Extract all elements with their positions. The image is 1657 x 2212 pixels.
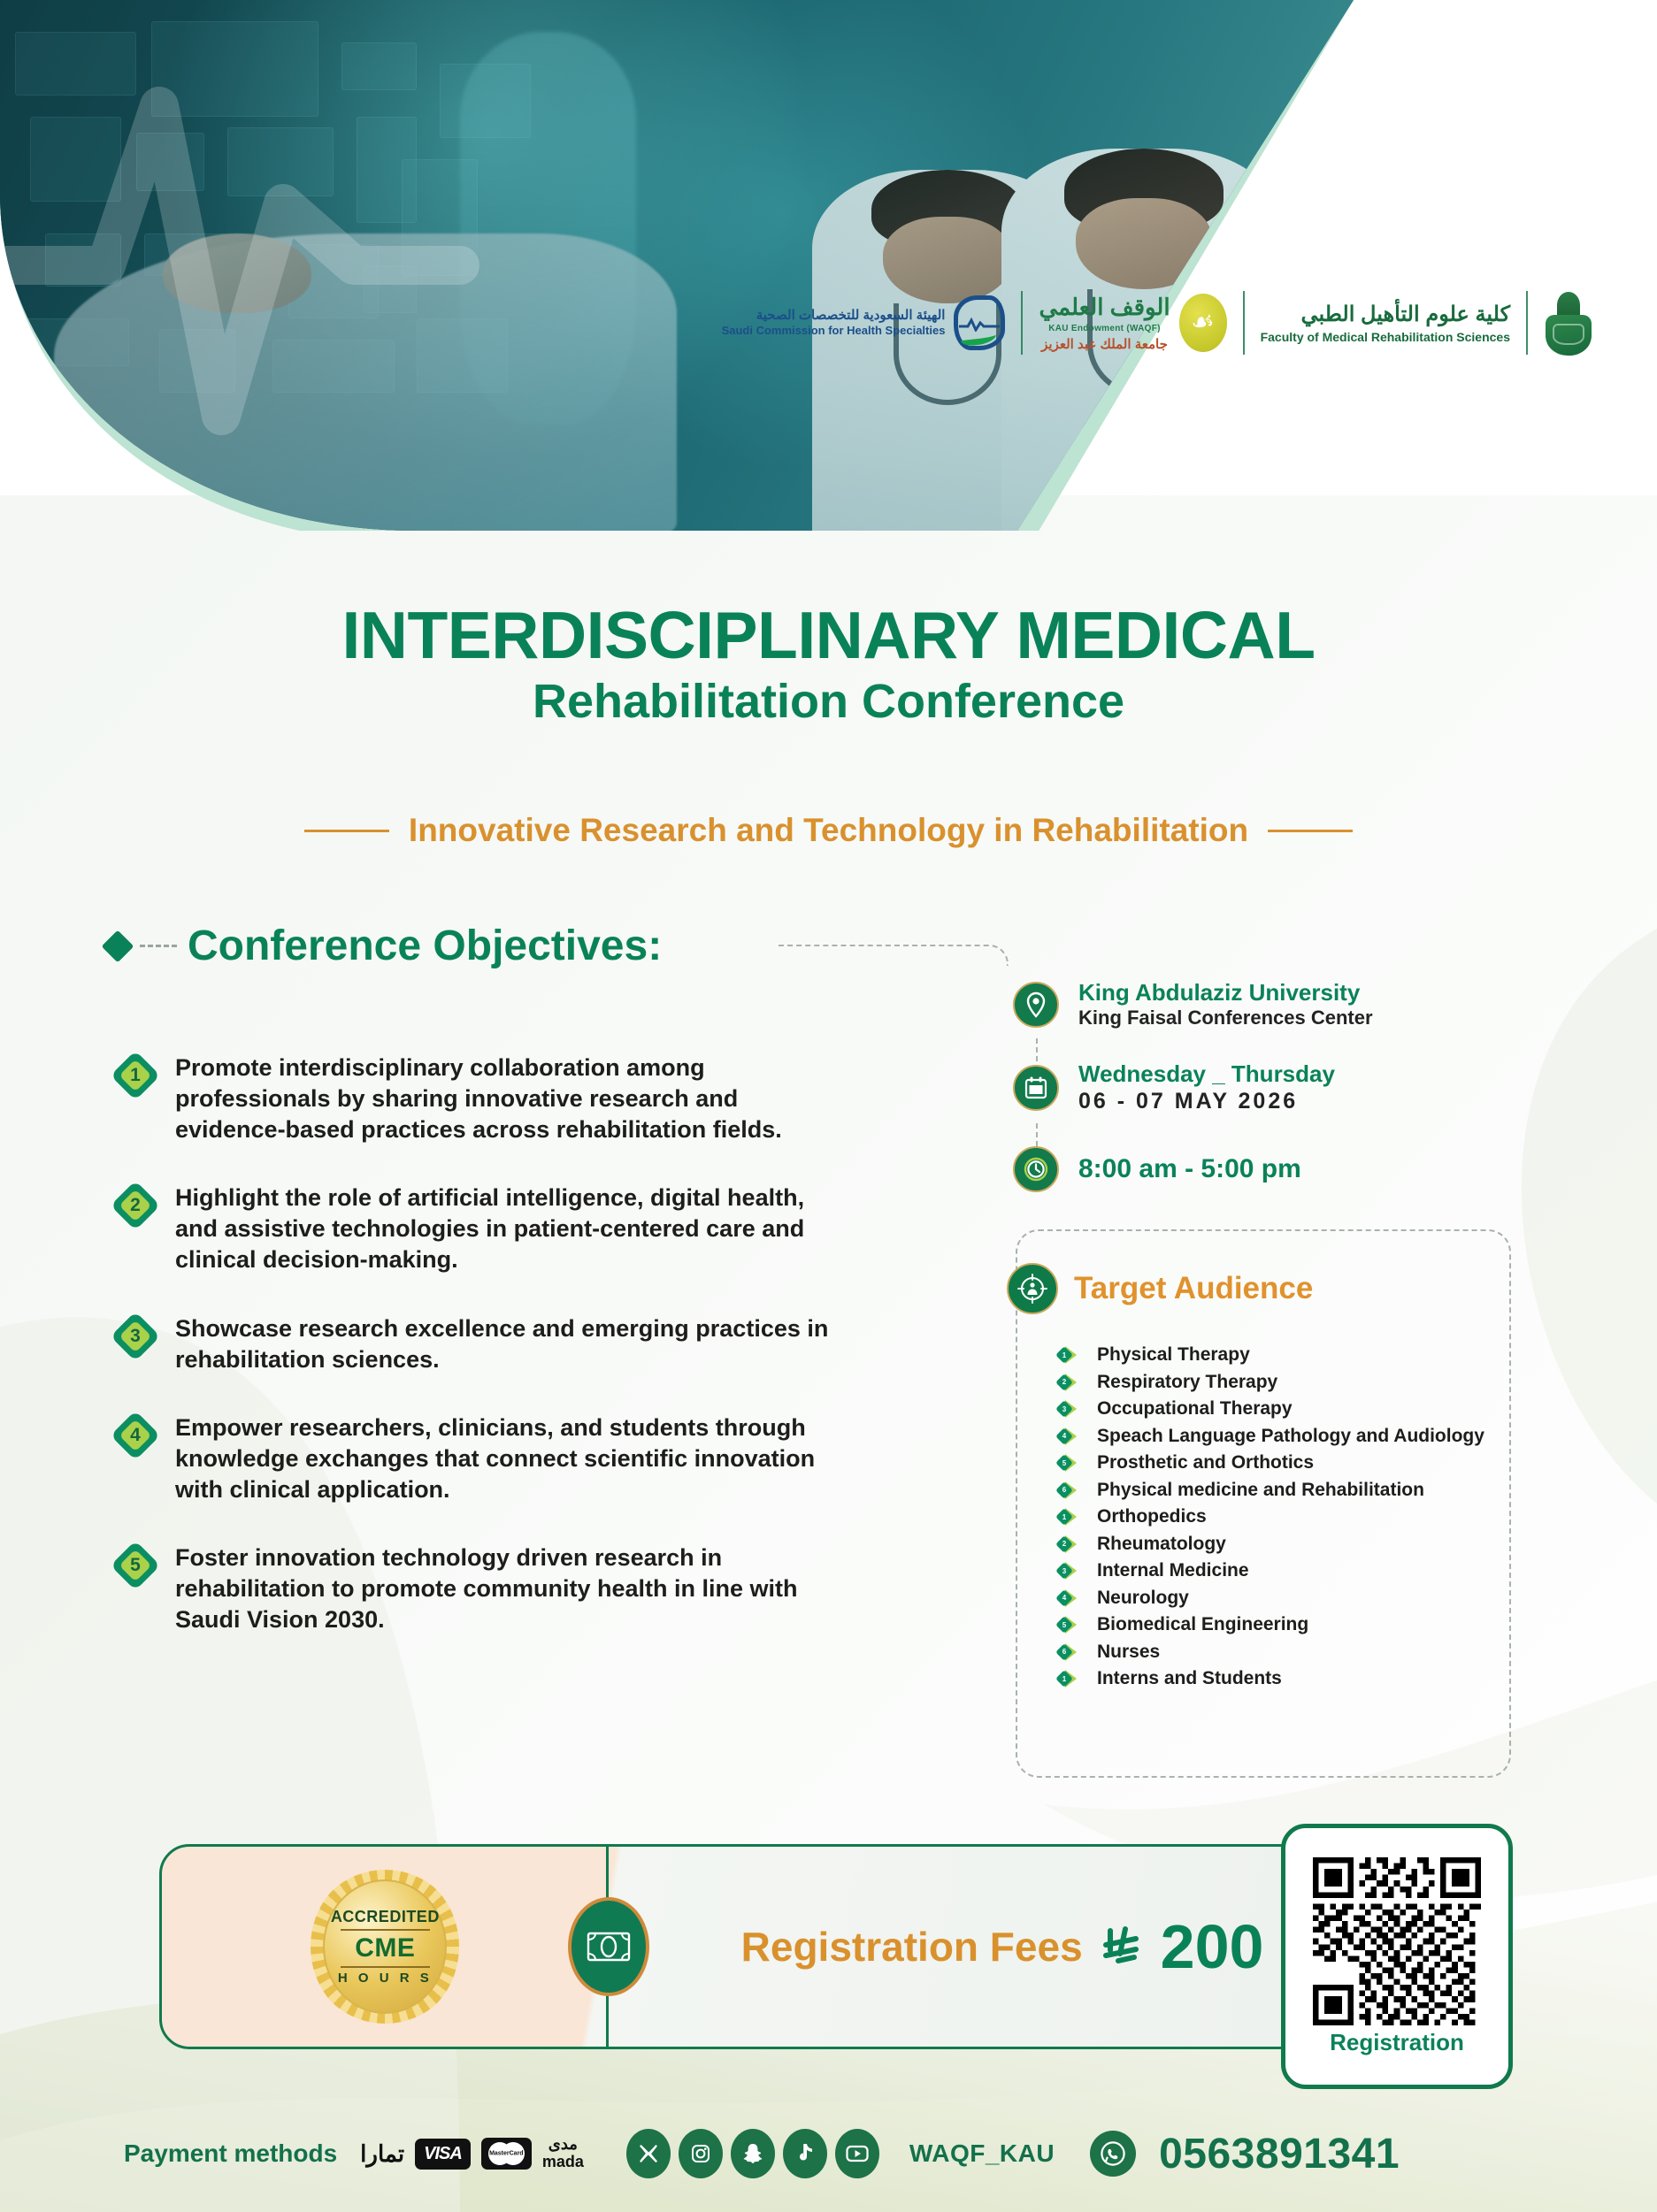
tamara-logo: تمارا [360,2140,404,2168]
qr-code[interactable] [1313,1857,1481,2025]
qr-label: Registration [1330,2029,1464,2056]
cme-panel: ACCREDITED CME H O U R S [162,1847,609,2047]
event-dates: 06 - 07 MAY 2026 [1078,1089,1298,1114]
cme-accreditation-badge: ACCREDITED CME H O U R S [311,1867,459,2026]
scfhs-arabic: الهيئة السعودية للتخصصات الصحية [722,308,946,325]
objective-number: 5 [115,1544,156,1587]
target-audience-icon [1007,1263,1058,1314]
calendar-icon [1013,1065,1059,1111]
audience-label: Physical medicine and Rehabilitation [1097,1480,1424,1501]
objective-item: 2 Highlight the role of artificial intel… [115,1183,849,1275]
waqf-seal-icon: ☙ [1179,294,1227,352]
objective-text: Empower researchers, clinicians, and stu… [175,1412,849,1505]
audience-label: Occupational Therapy [1097,1398,1293,1420]
registration-qr-card[interactable]: Registration [1281,1824,1513,2089]
objective-text: Highlight the role of artificial intelli… [175,1183,849,1275]
faculty-arabic: كلية علوم التأهيل الطبي [1261,301,1510,328]
page-title-line1: INTERDISCIPLINARY MEDICAL [0,601,1657,670]
audience-label: Orthopedics [1097,1506,1207,1527]
arrow-bullet-icon: 3 [1058,1399,1085,1419]
subtitle-rule-right [1268,830,1353,832]
list-item: 6Physical medicine and Rehabilitation [1058,1480,1484,1501]
date-row: Wednesday _ Thursday 06 - 07 MAY 2026 [1013,1061,1508,1114]
dashed-connector [1036,1123,1038,1146]
target-audience-title: Target Audience [1074,1271,1313,1306]
logo-kau-endowment: الوقف العلمي KAU Endowment (WAQF) جامعة … [1023,293,1242,353]
list-item: 5Prosthetic and Orthotics [1058,1452,1484,1473]
dashed-connector [140,945,177,947]
waqf-arabic: الوقف العلمي [1039,293,1170,323]
objectives-title: Conference Objectives: [188,922,662,970]
logo-saudi-commission: الهيئة السعودية للتخصصات الصحية Saudi Co… [706,295,1022,350]
objective-number-icon: 1 [115,1054,156,1097]
mastercard-logo: MasterCard [481,2138,532,2170]
logo-kau-crest [1528,290,1609,356]
cme-label: CME [355,1933,415,1963]
logo-row: الهيئة السعودية للتخصصات الصحية Saudi Co… [706,290,1609,356]
objective-number: 4 [115,1414,156,1457]
social-links [626,2129,879,2178]
contact-phone: 0563891341 [1159,2130,1400,2178]
arrow-bullet-icon: 6 [1058,1481,1085,1500]
objective-number-icon: 4 [115,1414,156,1457]
mada-logo: مدى mada [542,2136,584,2171]
audience-label: Internal Medicine [1097,1560,1249,1581]
youtube-icon[interactable] [835,2129,879,2178]
list-item: 1Orthopedics [1058,1506,1484,1527]
dashed-connector [1036,1038,1038,1061]
arrow-bullet-icon: 1 [1058,1345,1085,1365]
banknote-icon [568,1897,649,1996]
list-item: 1Interns and Students [1058,1668,1484,1689]
arrow-bullet-icon: 3 [1058,1561,1085,1581]
audience-label: Nurses [1097,1642,1160,1663]
time-row: 8:00 am - 5:00 pm [1013,1146,1508,1192]
objective-text: Foster innovation technology driven rese… [175,1542,849,1635]
objective-item: 5 Foster innovation technology driven re… [115,1542,849,1635]
objective-number: 3 [115,1315,156,1358]
scfhs-english: Saudi Commission for Health Specialties [722,324,946,338]
list-item: 6Nurses [1058,1642,1484,1663]
objective-number-icon: 5 [115,1544,156,1587]
snapchat-icon[interactable] [731,2129,775,2178]
social-handle: WAQF_KAU [909,2139,1055,2168]
objective-item: 3 Showcase research excellence and emerg… [115,1313,849,1375]
event-info-panel: King Abdulaziz University King Faisal Co… [1013,980,1508,1201]
subtitle-text: Innovative Research and Technology in Re… [409,812,1248,849]
list-item: 4Neurology [1058,1588,1484,1609]
target-audience-list: 1Physical Therapy 2Respiratory Therapy 3… [1058,1344,1484,1695]
waqf-arabic-sub: جامعة الملك عبد العزيز [1039,336,1170,354]
objective-text: Showcase research excellence and emergin… [175,1313,849,1375]
objective-item: 4 Empower researchers, clinicians, and s… [115,1412,849,1505]
list-item: 4Speach Language Pathology and Audiology [1058,1426,1484,1447]
arrow-bullet-icon: 2 [1058,1535,1085,1554]
diamond-bullet-icon [102,930,134,962]
arrow-bullet-icon: 5 [1058,1453,1085,1473]
kau-crest-icon [1544,290,1593,356]
venue-primary: King Abdulaziz University [1078,979,1360,1006]
objective-number: 2 [115,1184,156,1227]
faculty-english: Faculty of Medical Rehabilitation Scienc… [1261,329,1510,345]
logo-divider [1526,291,1528,355]
arrow-bullet-icon: 4 [1058,1588,1085,1608]
dashed-bracket [779,945,1009,966]
payment-methods-label: Payment methods [124,2139,337,2168]
objective-item: 1 Promote interdisciplinary collaboratio… [115,1052,849,1145]
whatsapp-icon[interactable] [1090,2131,1136,2177]
objective-number-icon: 3 [115,1315,156,1358]
tiktok-icon[interactable] [783,2129,827,2178]
waqf-english: KAU Endowment (WAQF) [1039,323,1170,334]
logo-faculty: كلية علوم التأهيل الطبي Faculty of Medic… [1245,301,1526,344]
audience-label: Prosthetic and Orthotics [1097,1452,1314,1473]
objective-text: Promote interdisciplinary collaboration … [175,1052,849,1145]
objectives-list: 1 Promote interdisciplinary collaboratio… [115,1052,849,1672]
arrow-bullet-icon: 1 [1058,1507,1085,1527]
event-days: Wednesday _ Thursday [1078,1060,1335,1087]
venue-row: King Abdulaziz University King Faisal Co… [1013,980,1508,1029]
venue-secondary: King Faisal Conferences Center [1078,1006,1373,1029]
registration-fees-label: Registration Fees [741,1923,1083,1971]
list-item: 1Physical Therapy [1058,1344,1484,1366]
target-audience-heading: Target Audience [1007,1263,1313,1314]
objective-number-icon: 2 [115,1184,156,1227]
objectives-heading: Conference Objectives: [106,922,662,970]
scfhs-logo-icon [954,295,1005,350]
location-pin-icon [1013,982,1059,1028]
instagram-icon[interactable] [679,2129,723,2178]
visa-logo: VISA [415,2139,471,2170]
mastercard-label: MasterCard [481,2151,532,2157]
subtitle-rule-left [304,830,389,832]
logo-divider [1021,291,1023,355]
audience-label: Physical Therapy [1097,1344,1250,1366]
list-item: 3Internal Medicine [1058,1560,1484,1581]
payment-logos: تمارا VISA MasterCard مدى mada [360,2136,584,2171]
list-item: 5Biomedical Engineering [1058,1614,1484,1635]
x-icon[interactable] [626,2129,671,2178]
logo-divider [1243,291,1245,355]
mada-arabic: مدى [548,2135,578,2153]
fees-amount-group: Registration Fees 200 [609,1916,1307,1978]
title-block: INTERDISCIPLINARY MEDICAL Rehabilitation… [0,601,1657,726]
arrow-bullet-icon: 6 [1058,1642,1085,1662]
subtitle-row: Innovative Research and Technology in Re… [0,812,1657,849]
audience-label: Respiratory Therapy [1097,1372,1277,1393]
hero-banner [0,0,1354,531]
footer-bar: Payment methods تمارا VISA MasterCard مد… [0,2070,1657,2212]
saudi-riyal-icon [1099,1924,1145,1970]
list-item: 3Occupational Therapy [1058,1398,1484,1420]
audience-label: Biomedical Engineering [1097,1614,1308,1635]
arrow-bullet-icon: 1 [1058,1669,1085,1688]
mada-latin: mada [542,2153,584,2170]
list-item: 2Respiratory Therapy [1058,1372,1484,1393]
page-title-line2: Rehabilitation Conference [0,677,1657,727]
objective-number: 1 [115,1054,156,1097]
arrow-bullet-icon: 5 [1058,1615,1085,1634]
audience-label: Interns and Students [1097,1668,1282,1689]
audience-label: Speach Language Pathology and Audiology [1097,1426,1484,1447]
list-item: 2Rheumatology [1058,1534,1484,1555]
cme-accredited-label: ACCREDITED [331,1908,440,1926]
audience-label: Rheumatology [1097,1534,1226,1555]
event-time: 8:00 am - 5:00 pm [1078,1154,1301,1184]
cme-hours-label: H O U R S [338,1971,433,1986]
registration-fees-bar: ACCREDITED CME H O U R S Registration Fe… [159,1844,1309,2049]
audience-label: Neurology [1097,1588,1189,1609]
arrow-bullet-icon: 2 [1058,1373,1085,1392]
registration-fee-amount: 200 [1161,1916,1264,1978]
arrow-bullet-icon: 4 [1058,1427,1085,1446]
clock-icon [1013,1146,1059,1192]
